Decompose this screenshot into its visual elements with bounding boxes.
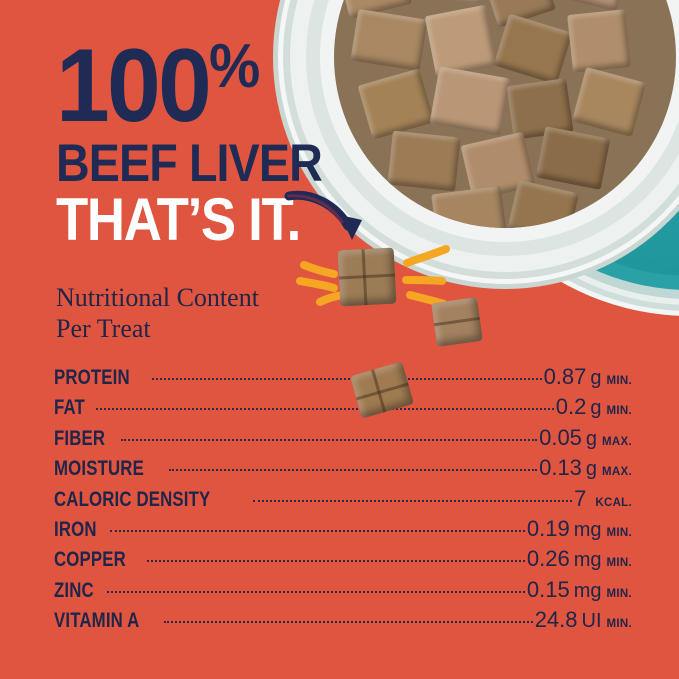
nutrition-label: FIBER bbox=[54, 427, 105, 451]
nutrition-row: COPPER0.26mgMIN. bbox=[54, 546, 632, 576]
dot-leader bbox=[96, 408, 554, 410]
nutrition-label: ZINC bbox=[54, 579, 94, 603]
nutrition-row: FAT0.2gMIN. bbox=[54, 394, 632, 424]
headline-beef-liver: BEEF LIVER bbox=[56, 139, 346, 189]
dot-leader bbox=[253, 500, 573, 502]
nutrition-qualifier: MAX. bbox=[602, 466, 632, 478]
nutrition-row: ZINC0.15mgMIN. bbox=[54, 577, 632, 607]
nutrition-label: PROTEIN bbox=[54, 366, 130, 390]
nutrition-value: 0.15 bbox=[527, 577, 570, 603]
nutrition-row: CALORIC DENSITY7KCAL. bbox=[54, 486, 632, 516]
headline-thats-it: THAT’S IT. bbox=[56, 191, 346, 248]
dot-leader bbox=[147, 560, 525, 562]
nutrition-qualifier: MIN. bbox=[607, 588, 632, 600]
nutrition-label: COPPER bbox=[54, 548, 126, 572]
nutrition-unit: UI bbox=[582, 610, 602, 633]
dot-leader bbox=[169, 469, 537, 471]
dot-leader bbox=[110, 530, 525, 532]
headline-100-percent: 100% bbox=[56, 40, 363, 133]
nutrition-unit: mg bbox=[574, 580, 602, 603]
nutritional-content-heading: Nutritional Content Per Treat bbox=[56, 283, 259, 344]
nutrition-value: 0.05 bbox=[539, 425, 582, 451]
nutrition-value: 7 bbox=[574, 486, 586, 512]
dot-leader bbox=[152, 378, 542, 380]
dot-leader bbox=[164, 621, 533, 623]
nutrition-label: IRON bbox=[54, 518, 97, 542]
nutrition-row: FIBER0.05gMAX. bbox=[54, 425, 632, 455]
headline-percent-sign: % bbox=[209, 32, 257, 101]
nutrition-value: 24.8 bbox=[535, 607, 578, 633]
headline-number: 100 bbox=[56, 28, 209, 144]
nutrition-value: 0.13 bbox=[539, 455, 582, 481]
nutrition-value: 0.26 bbox=[527, 546, 570, 572]
treat-cube-main bbox=[338, 248, 397, 307]
nutrition-qualifier: MIN. bbox=[607, 618, 632, 630]
nutrition-unit: mg bbox=[574, 549, 602, 572]
nutrition-row: IRON0.19mgMIN. bbox=[54, 516, 632, 546]
nutrition-qualifier: MIN. bbox=[607, 405, 632, 417]
treat-cube-secondary bbox=[431, 297, 483, 347]
nutrition-qualifier: MAX. bbox=[602, 436, 632, 448]
nutrition-label: MOISTURE bbox=[54, 457, 144, 481]
nutrition-row: VITAMIN A24.8UIMIN. bbox=[54, 607, 632, 637]
nutrition-qualifier: KCAL. bbox=[595, 497, 632, 509]
nutrition-label: FAT bbox=[54, 396, 85, 420]
nutrition-qualifier: MIN. bbox=[607, 527, 632, 539]
nutrition-unit: g bbox=[590, 397, 601, 420]
nutrition-label: VITAMIN A bbox=[54, 609, 139, 633]
nutrition-unit: mg bbox=[574, 519, 602, 542]
nutrition-value: 0.87 bbox=[544, 364, 587, 390]
nutrition-value: 0.19 bbox=[527, 516, 570, 542]
nutrition-qualifier: MIN. bbox=[607, 557, 632, 569]
dot-leader bbox=[107, 591, 525, 593]
dot-leader bbox=[121, 439, 537, 441]
headline-block: 100% BEEF LIVER THAT’S IT. bbox=[56, 40, 386, 248]
nutrition-unit: g bbox=[586, 458, 597, 481]
nutrition-table: PROTEIN0.87gMIN.FAT0.2gMIN.FIBER0.05gMAX… bbox=[54, 364, 632, 638]
nutrition-row: PROTEIN0.87gMIN. bbox=[54, 364, 632, 394]
nutrition-qualifier: MIN. bbox=[607, 375, 632, 387]
nutrition-unit: g bbox=[590, 367, 601, 390]
nutrition-value: 0.2 bbox=[556, 394, 587, 420]
heading-line-2: Per Treat bbox=[56, 314, 259, 345]
nutrition-label: CALORIC DENSITY bbox=[54, 488, 210, 512]
product-marketing-image: GUARANTEED DELICIOUS Stewa Dog T bbox=[0, 0, 679, 679]
nutrition-unit: g bbox=[586, 428, 597, 451]
nutrition-row: MOISTURE0.13gMAX. bbox=[54, 455, 632, 485]
heading-line-1: Nutritional Content bbox=[56, 283, 259, 314]
